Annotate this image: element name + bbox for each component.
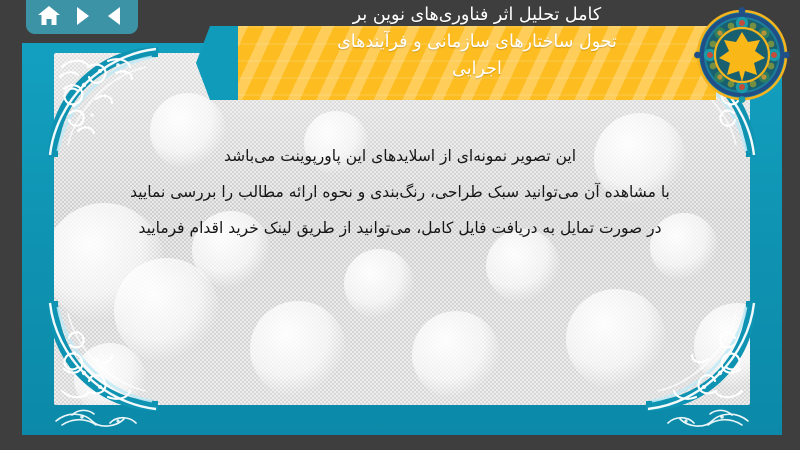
- banner-arrow-shape: [196, 26, 238, 100]
- slide-body: این تصویر نمونه‌ای از اسلایدهای این پاور…: [40, 138, 760, 246]
- bokeh-circle: [114, 258, 219, 363]
- bokeh-circle: [344, 249, 414, 319]
- bokeh-circle: [412, 311, 500, 399]
- bottom-ornament-band: [22, 405, 782, 435]
- bokeh-circle: [250, 301, 346, 397]
- title-line-1: کامل تحلیل اثر فناوری‌های نوین بر: [240, 2, 714, 29]
- body-line-3: در صورت تمایل به دریافت فایل کامل، می‌تو…: [40, 210, 760, 246]
- home-button[interactable]: [36, 3, 62, 29]
- presentation-slide: کامل تحلیل اثر فناوری‌های نوین بر تحول س…: [0, 0, 800, 450]
- title-line-3: اجرایی: [240, 56, 714, 83]
- home-icon: [37, 4, 61, 28]
- slide-title: کامل تحلیل اثر فناوری‌های نوین بر تحول س…: [240, 2, 714, 83]
- body-line-1: این تصویر نمونه‌ای از اسلایدهای این پاور…: [40, 138, 760, 174]
- triangle-right-icon: [71, 5, 93, 27]
- bokeh-circle: [694, 303, 750, 389]
- triangle-left-icon: [104, 5, 126, 27]
- navigation-bar: [26, 0, 138, 34]
- title-line-2: تحول ساختارهای سازمانی و فرآیندهای: [240, 29, 714, 56]
- next-button[interactable]: [69, 3, 95, 29]
- bokeh-circle: [566, 289, 666, 389]
- body-line-2: با مشاهده آن می‌توانید سبک طراحی، رنگ‌بن…: [40, 174, 760, 210]
- previous-button[interactable]: [102, 3, 128, 29]
- persian-medallion-icon: [694, 7, 790, 103]
- bokeh-circle: [74, 343, 146, 405]
